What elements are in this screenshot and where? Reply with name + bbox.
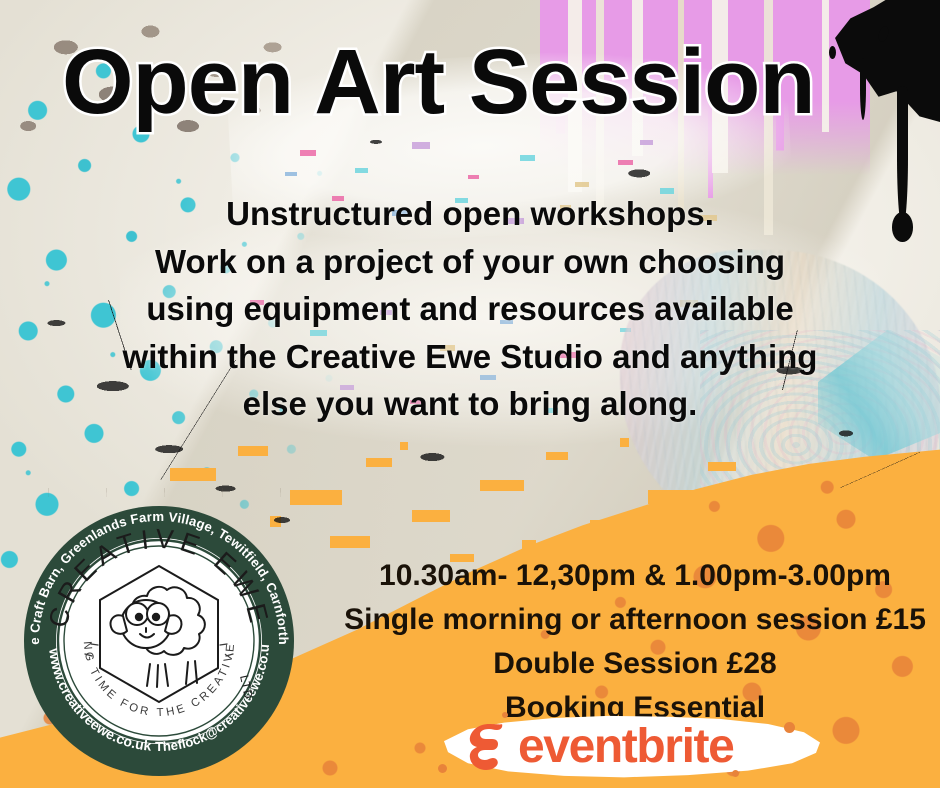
description-block: Unstructured open workshops. Work on a p… (0, 190, 940, 428)
session-times: 10.30am- 12,30pm & 1.00pm-3.00pm (330, 554, 940, 598)
description-line-5: else you want to bring along. (0, 380, 940, 428)
description-line-1: Unstructured open workshops. (0, 190, 940, 238)
orange-fleck-d (502, 712, 508, 718)
open-art-session-poster: Open Art Session Unstructured open works… (0, 0, 940, 788)
page-title: Open Art Session (0, 36, 940, 128)
creative-ewe-logo: Unit 3, The Craft Barn, Greenlands Farm … (22, 504, 296, 778)
eventbrite-flame-mark-icon (458, 720, 512, 774)
single-session-price: Single morning or afternoon session £15 (330, 598, 940, 642)
orange-fleck-b (784, 722, 795, 733)
orange-fleck-c (732, 770, 739, 777)
description-line-3: using equipment and resources available (0, 285, 940, 333)
eventbrite-logo[interactable]: eventbrite (432, 710, 832, 784)
session-details-block: 10.30am- 12,30pm & 1.00pm-3.00pm Single … (330, 554, 940, 730)
double-session-price: Double Session £28 (330, 642, 940, 686)
description-line-2: Work on a project of your own choosing (0, 238, 940, 286)
eventbrite-wordmark: eventbrite (518, 718, 733, 776)
orange-fleck-a (438, 764, 447, 773)
description-line-4: within the Creative Ewe Studio and anyth… (0, 333, 940, 381)
